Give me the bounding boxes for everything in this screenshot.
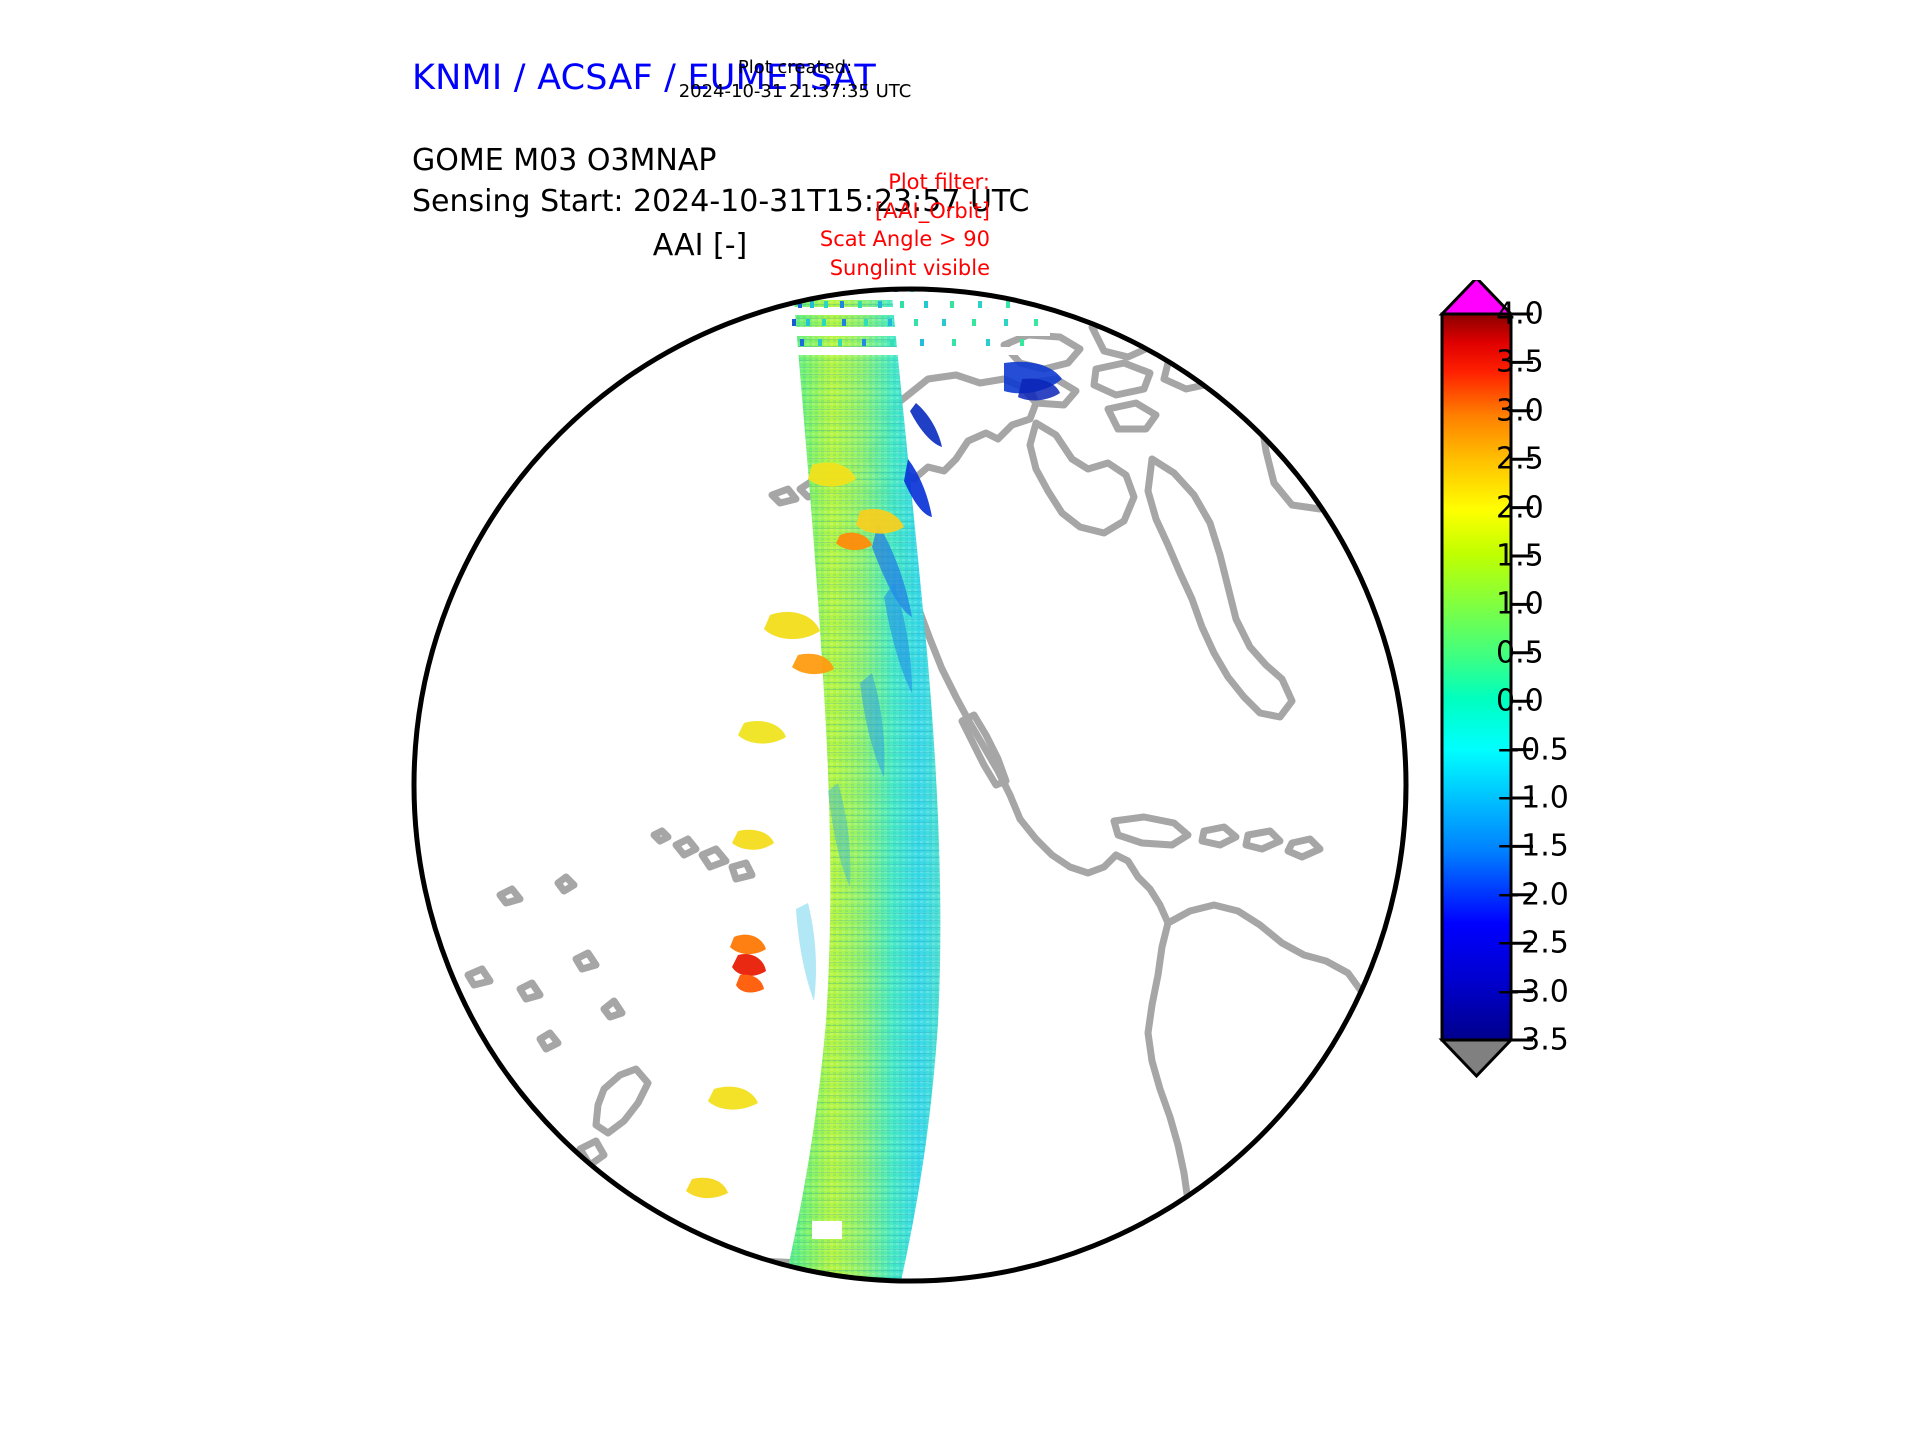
colorbar-tick-label: −3.5 [1496, 1023, 1569, 1058]
colorbar-tick-label: 0.0 [1496, 684, 1544, 719]
colorbar-tick-label: 1.0 [1496, 587, 1544, 622]
colorbar-tick-label: −3.0 [1496, 974, 1569, 1009]
plot-filter-scat-angle: Scat Angle > 90 [660, 225, 990, 254]
colorbar-tick-label: −2.0 [1496, 877, 1569, 912]
colorbar-tick-label: 3.0 [1496, 393, 1544, 428]
map-plot-area [408, 283, 1412, 1287]
colorbar-svg [1432, 280, 1662, 1090]
colorbar-tick-label: −2.5 [1496, 926, 1569, 961]
plot-created-label: Plot created: [615, 56, 975, 80]
plot-filter-sunglint: Sunglint visible [660, 254, 990, 283]
plot-created-block: Plot created: 2024-10-31 21:37:35 UTC [615, 56, 975, 105]
plot-filter-block: Plot filter: [AAI_Orbit] Scat Angle > 90… [660, 168, 990, 282]
colorbar-tick-label: 1.5 [1496, 539, 1544, 574]
colorbar-tick-label: 0.5 [1496, 635, 1544, 670]
colorbar-tick-label: −0.5 [1496, 732, 1569, 767]
plot-filter-variable: [AAI_Orbit] [660, 197, 990, 226]
plot-created-timestamp: 2024-10-31 21:37:35 UTC [615, 80, 975, 104]
colorbar-tick-label: −1.5 [1496, 829, 1569, 864]
colorbar: 4.0 3.5 3.0 2.5 2.0 1.5 1.0 0.5 0.0 −0.5… [1432, 280, 1662, 1090]
colorbar-tick-label: −1.0 [1496, 781, 1569, 816]
colorbar-tick-label: 2.5 [1496, 442, 1544, 477]
colorbar-tick-label: 4.0 [1496, 297, 1544, 332]
plot-filter-label: Plot filter: [660, 168, 990, 197]
colorbar-tick-label: 2.0 [1496, 490, 1544, 525]
colorbar-tick-label: 3.5 [1496, 345, 1544, 380]
globe-orthographic-projection [408, 283, 1412, 1287]
